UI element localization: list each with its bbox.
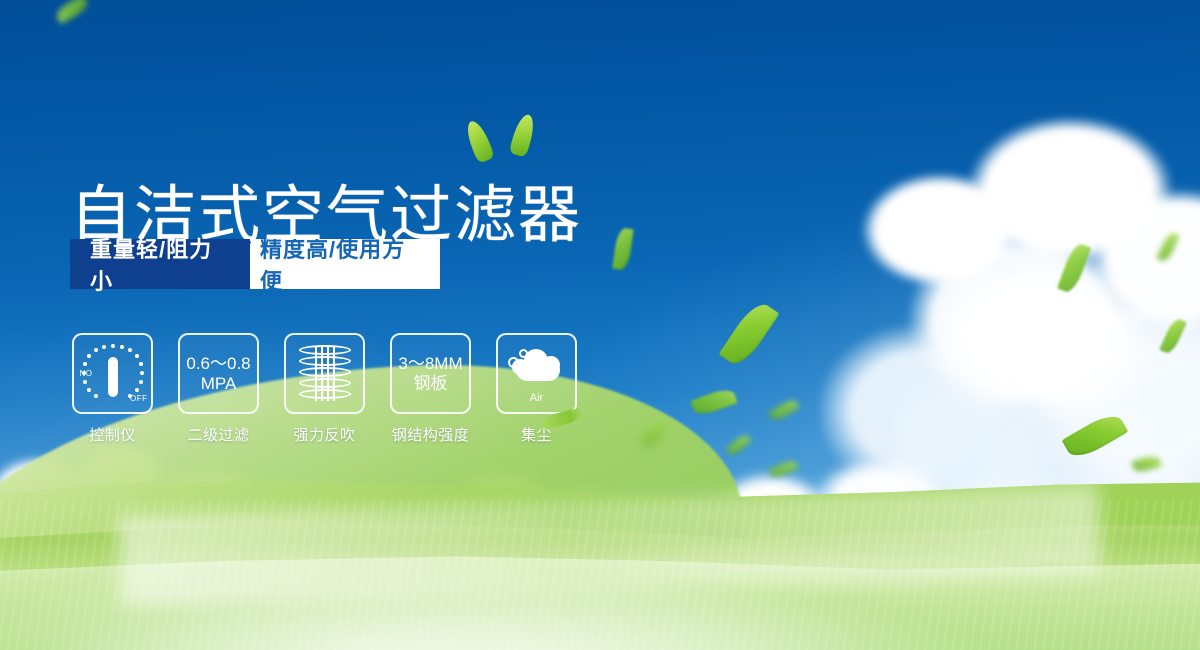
subtitle-left: 重量轻/阻力小 bbox=[70, 239, 250, 289]
subtitle-right: 精度高/使用方便 bbox=[234, 239, 440, 289]
product-banner: 自洁式空气过滤器 重量轻/阻力小 精度高/使用方便 NO OFF bbox=[0, 0, 1200, 650]
feature-label: 二级过滤 bbox=[187, 424, 249, 445]
feature-badge: Air bbox=[496, 333, 577, 414]
pressure-value: 0.6～0.8 bbox=[186, 354, 250, 373]
leaf-icon bbox=[463, 118, 495, 164]
feature-item-dust-collection[interactable]: Air 集尘 bbox=[494, 333, 579, 445]
pressure-text-icon: 0.6～0.8 MPA bbox=[186, 354, 250, 393]
feature-item-steel-strength[interactable]: 3～8MM 钢板 钢结构强度 bbox=[388, 333, 473, 445]
feature-badge: NO OFF bbox=[72, 333, 153, 414]
feature-list: NO OFF bbox=[70, 333, 579, 445]
air-cloud-icon: Air bbox=[506, 345, 568, 403]
filter-coil-icon bbox=[299, 345, 351, 403]
leaf-icon bbox=[509, 112, 538, 157]
leaf-icon bbox=[541, 407, 583, 429]
feature-label: 控制仪 bbox=[89, 424, 136, 445]
subtitle-bar: 重量轻/阻力小 精度高/使用方便 bbox=[70, 239, 440, 289]
feature-item-two-stage-filter[interactable]: 0.6～0.8 MPA 二级过滤 bbox=[176, 333, 261, 445]
feature-label: 钢结构强度 bbox=[392, 424, 470, 445]
feature-item-pulse-blowback[interactable]: 强力反吹 bbox=[282, 333, 367, 445]
gauge-icon: NO OFF bbox=[82, 343, 144, 405]
steel-thickness: 3～8MM bbox=[398, 354, 462, 373]
feature-item-controller[interactable]: NO OFF bbox=[70, 333, 155, 445]
feature-badge bbox=[284, 333, 365, 414]
feature-badge: 0.6～0.8 MPA bbox=[178, 333, 259, 414]
air-label: Air bbox=[506, 392, 568, 404]
feature-badge: 3～8MM 钢板 bbox=[390, 333, 471, 414]
gauge-needle bbox=[108, 357, 118, 397]
steel-material: 钢板 bbox=[398, 374, 462, 394]
feature-label: 强力反吹 bbox=[293, 424, 355, 445]
gauge-label-off: OFF bbox=[130, 394, 148, 403]
pressure-unit: MPA bbox=[186, 374, 250, 394]
title-leaves bbox=[468, 112, 558, 164]
steel-plate-text-icon: 3～8MM 钢板 bbox=[398, 354, 462, 393]
